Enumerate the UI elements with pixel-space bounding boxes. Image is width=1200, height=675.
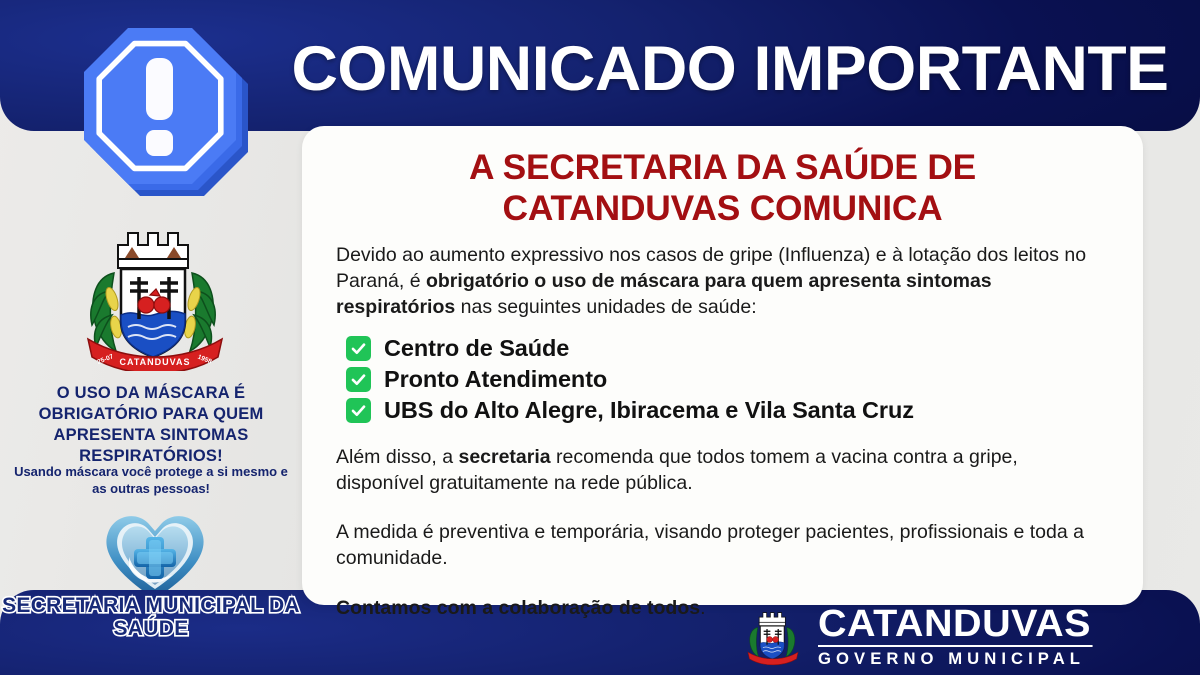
card-title-line1: A SECRETARIA DA SAÚDE DE <box>332 148 1113 189</box>
catanduvas-coat-of-arms-icon <box>742 602 804 668</box>
announcement-card: A SECRETARIA DA SAÚDE DE CATANDUVAS COMU… <box>302 126 1143 605</box>
green-check-icon <box>346 398 371 423</box>
paragraph-2-bold: secretaria <box>458 446 550 468</box>
page-title: COMUNICADO IMPORTANTE <box>291 33 1168 105</box>
paragraph-1: Devido ao aumento expressivo nos casos d… <box>336 243 1109 321</box>
card-title-line2: CATANDUVAS COMUNICA <box>332 189 1113 230</box>
paragraph-3: A medida é preventiva e temporária, visa… <box>336 520 1109 572</box>
paragraph-4-part2: . <box>700 597 705 619</box>
list-item-label: Pronto Atendimento <box>384 367 607 393</box>
city-subtitle: GOVERNO MUNICIPAL <box>818 651 1085 668</box>
paragraph-2: Além disso, a secretaria recomenda que t… <box>336 445 1109 497</box>
list-item: Pronto Atendimento <box>346 367 1109 393</box>
list-item: Centro de Saúde <box>346 336 1109 362</box>
paragraph-1-part2: nas seguintes unidades de saúde: <box>455 296 756 318</box>
paragraph-4-bold: Contamos com a colaboração de todos <box>336 597 700 619</box>
card-title: A SECRETARIA DA SAÚDE DE CATANDUVAS COMU… <box>332 148 1113 229</box>
green-check-icon <box>346 367 371 392</box>
city-government-brand: CATANDUVAS GOVERNO MUNICIPAL <box>742 600 1142 670</box>
list-item-label: Centro de Saúde <box>384 336 569 362</box>
city-name: CATANDUVAS <box>818 605 1093 647</box>
green-check-icon <box>346 336 371 361</box>
sidebar-subtext: Usando máscara você protege a si mesmo e… <box>14 464 288 498</box>
catanduvas-coat-of-arms-icon: CATANDUVAS 25-07 1958 <box>72 215 238 371</box>
list-item: UBS do Alto Alegre, Ibiracema e Vila San… <box>346 398 1109 424</box>
alert-exclamation-octagon-icon <box>78 22 263 212</box>
health-department-label: SECRETARIA MUNICIPAL DA SAÚDE <box>0 595 302 640</box>
health-units-list: Centro de Saúde Pronto Atendimento UBS d… <box>346 336 1109 424</box>
list-item-label: UBS do Alto Alegre, Ibiracema e Vila San… <box>384 398 914 424</box>
svg-text:CATANDUVAS: CATANDUVAS <box>120 357 191 367</box>
sidebar-heading: O USO DA MÁSCARA É OBRIGATÓRIO PARA QUEM… <box>8 383 294 467</box>
paragraph-2-part1: Além disso, a <box>336 446 458 468</box>
